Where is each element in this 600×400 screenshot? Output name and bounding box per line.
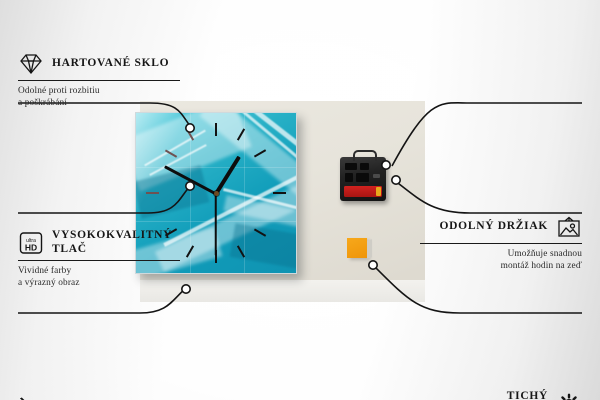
ultra-hd-icon: ultra HD (18, 231, 44, 255)
foam-spacer-pad (347, 238, 367, 258)
picture-frame-hanger-icon (556, 215, 582, 239)
clock-mechanism (340, 157, 386, 201)
divider (18, 260, 180, 261)
feature-high-quality-print: ultra HD VYSOKOKVALITNÝ TLAČ Vividné far… (18, 229, 180, 289)
gear-icon (556, 392, 582, 400)
feature-desc: Umožňuje snadnoumontáž hodin na zeď (420, 249, 582, 272)
feature-title: HARTOVANÉ SKLO (52, 57, 169, 71)
feature-desc: Odolné proti rozbitiua poškrábání (18, 86, 180, 109)
divider (420, 243, 582, 244)
feature-title: VYSOKOKVALITNÝ TLAČ (52, 229, 180, 256)
infographic-canvas: HARTOVANÉ SKLO Odolné proti rozbitiua po… (0, 0, 600, 400)
feature-polished-edges: BRÚSENÉ HRANY Hladký a bezpečný povrch (18, 395, 180, 400)
mechanism-hook (353, 150, 377, 161)
feature-title: TICHÝ MECHANIZMUS (420, 390, 548, 400)
svg-text:HD: HD (25, 242, 37, 252)
feature-desc: Vividné farbya výrazný obraz (18, 266, 180, 289)
feature-tempered-glass: HARTOVANÉ SKLO Odolné proti rozbitiua po… (18, 52, 180, 109)
wall-base-shadow (140, 280, 425, 302)
hour-hand (214, 155, 241, 195)
battery (344, 186, 382, 197)
feature-durable-holder: ODOLNÝ DRŽIAK Umožňuje snadnoumontáž hod… (420, 215, 582, 272)
diamond-icon (18, 52, 44, 76)
feature-title: ODOLNÝ DRŽIAK (440, 220, 548, 234)
second-hand (215, 193, 217, 255)
feature-silent-mechanism: TICHÝ MECHANIZMUS Hodinové ručičkybez zv… (420, 390, 582, 400)
hatched-edge-icon (18, 395, 44, 400)
divider (18, 80, 180, 81)
minute-hand (164, 165, 217, 195)
clock-center-pin (214, 191, 219, 196)
